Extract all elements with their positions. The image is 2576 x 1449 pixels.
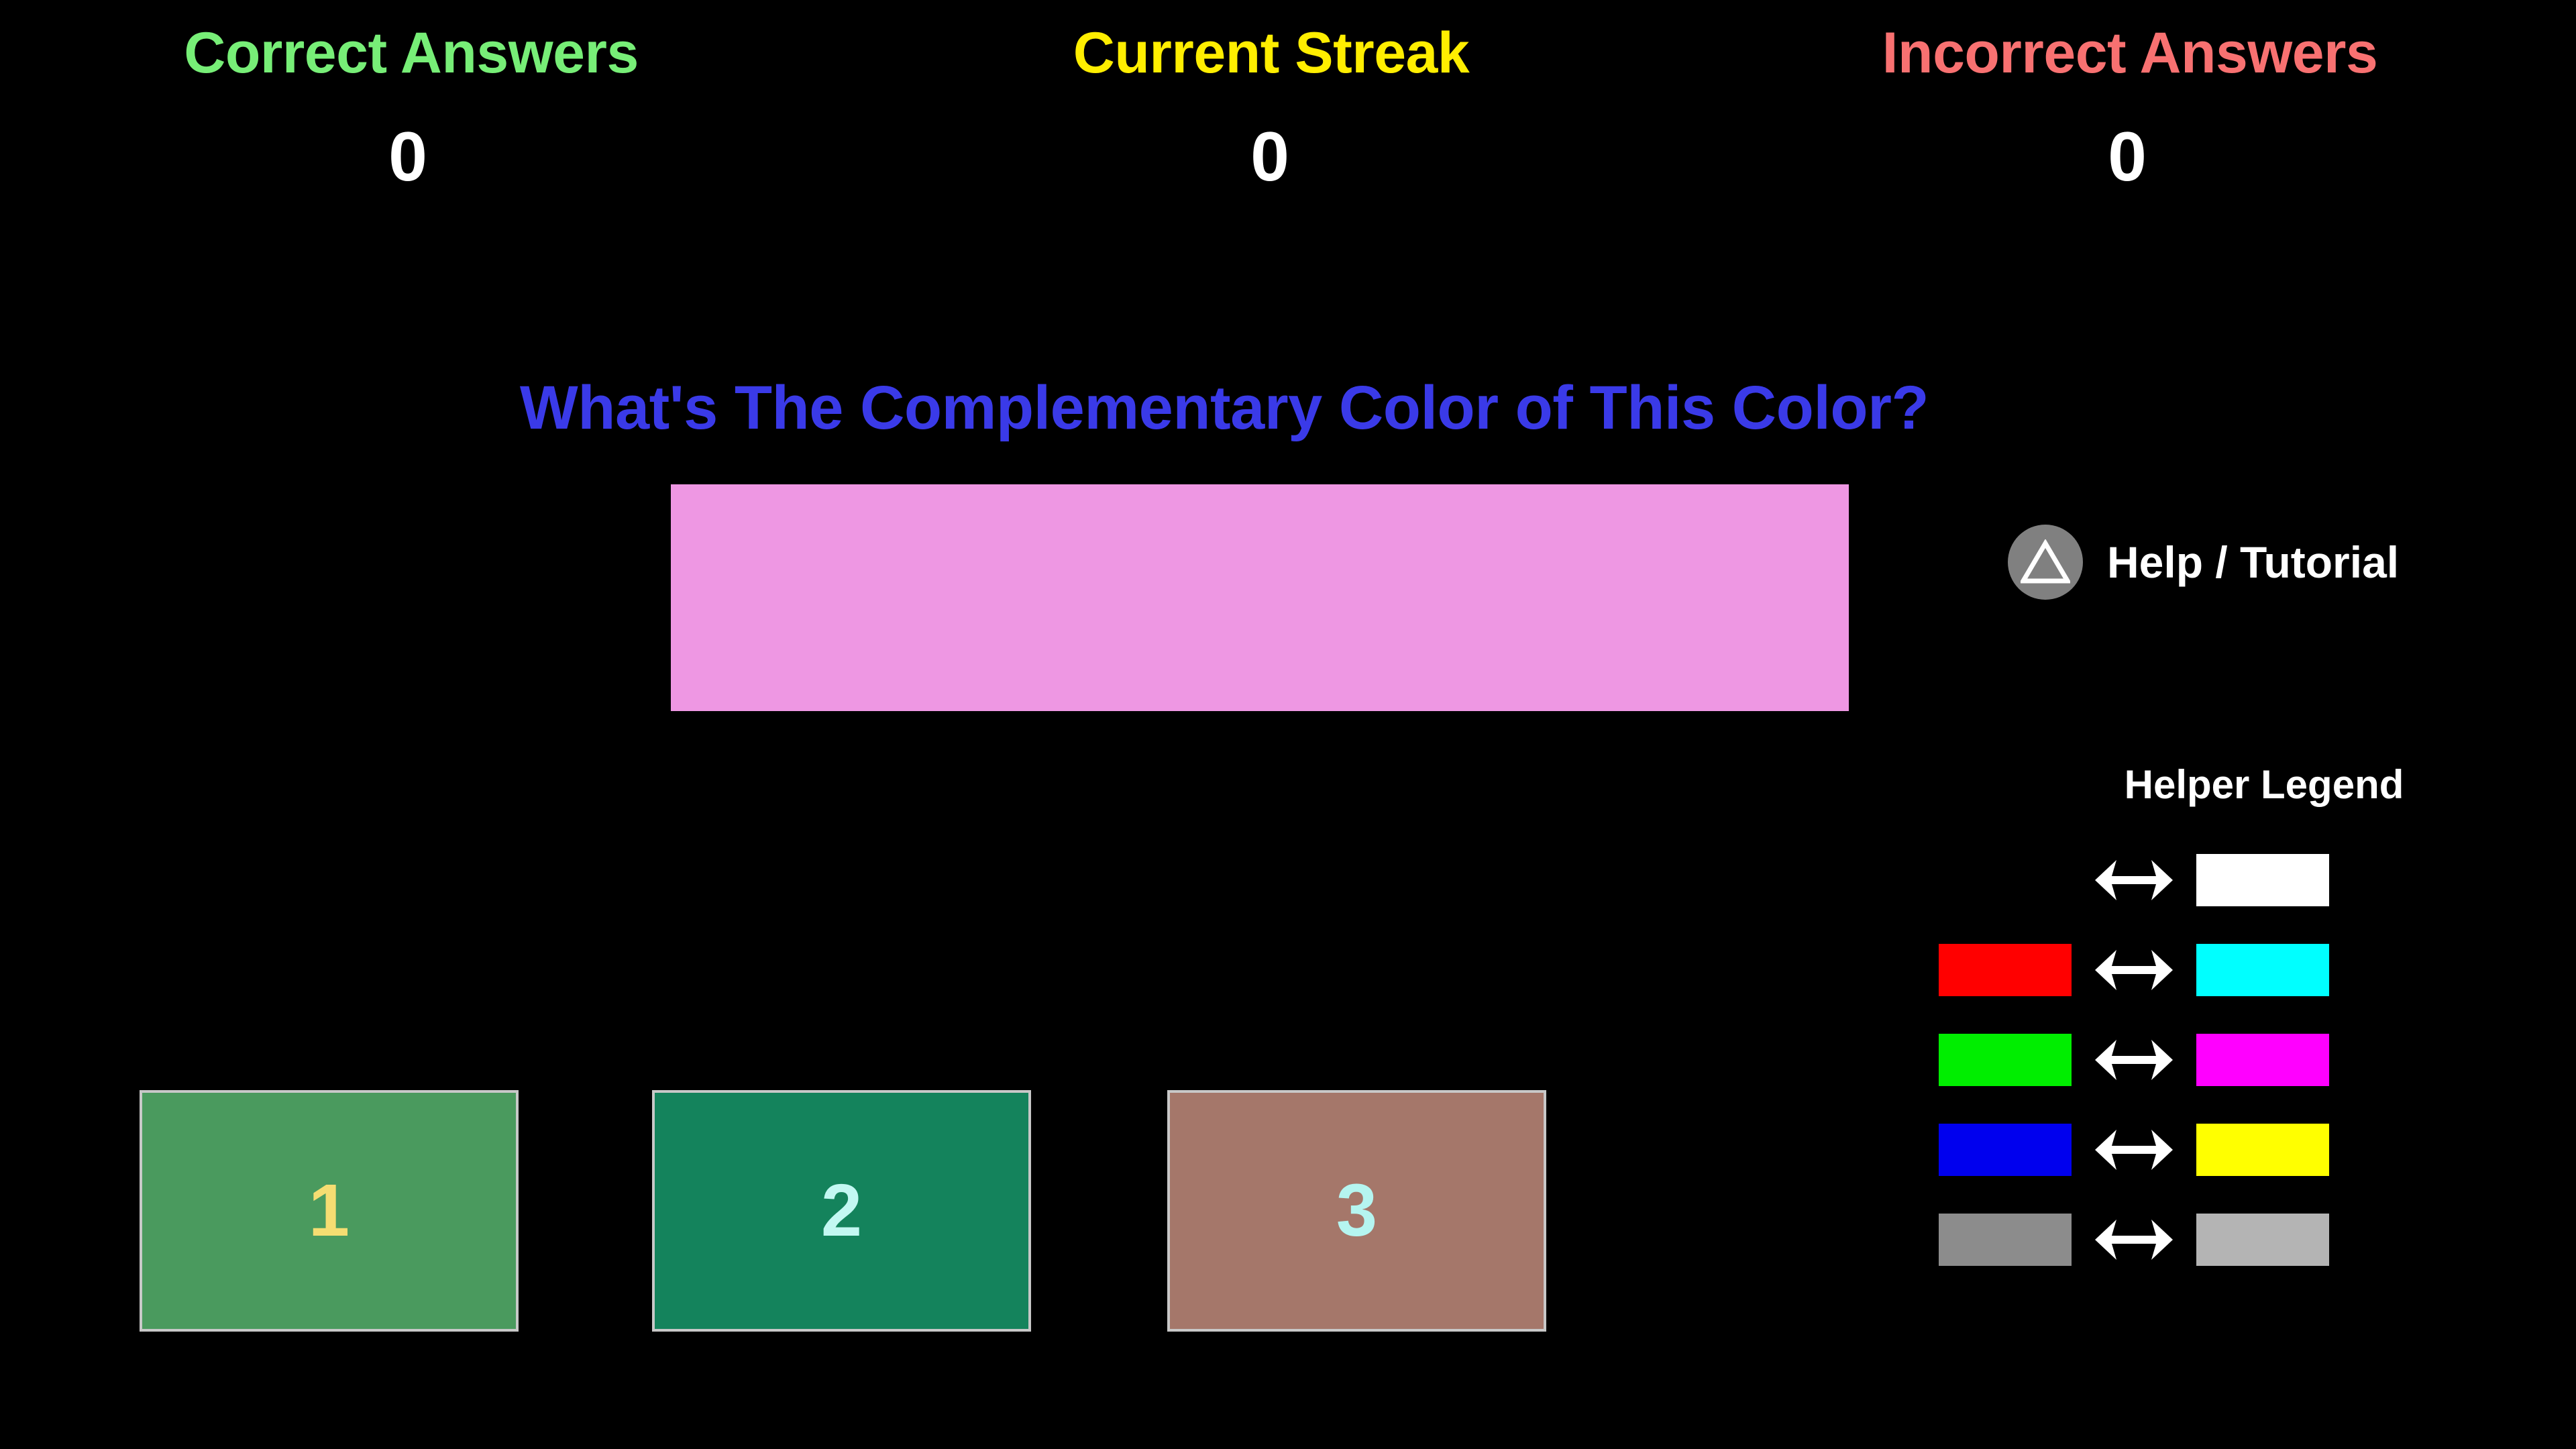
- stat-correct-answers-value: 0: [177, 122, 639, 192]
- stat-incorrect-answers-value: 0: [1877, 122, 2378, 192]
- answer-button-3-label: 3: [1336, 1174, 1377, 1248]
- helper-legend-title: Helper Legend: [2059, 765, 2469, 805]
- question-title: What's The Complementary Color of This C…: [520, 377, 1929, 439]
- legend-swatch-left: [1939, 854, 2072, 906]
- legend-swatch-right: [2196, 944, 2329, 996]
- question-color-swatch: [671, 484, 1849, 711]
- stat-incorrect-answers: Incorrect Answers 0: [1882, 24, 2378, 192]
- stats-bar: Correct Answers 0 Current Streak 0 Incor…: [0, 0, 2576, 241]
- answer-buttons: 1 2 3: [0, 1090, 2576, 1345]
- answer-button-1[interactable]: 1: [140, 1090, 519, 1332]
- legend-row: [1939, 936, 2469, 1004]
- left-right-arrow-icon: [2072, 856, 2196, 904]
- legend-row: [1939, 847, 2469, 914]
- legend-swatch-right: [2196, 1034, 2329, 1086]
- legend-swatch-left: [1939, 944, 2072, 996]
- stat-incorrect-answers-label: Incorrect Answers: [1882, 24, 2378, 82]
- stat-current-streak-label: Current Streak: [1073, 24, 1469, 82]
- help-tutorial-button[interactable]: Help / Tutorial: [2008, 525, 2399, 600]
- legend-row: [1939, 1026, 2469, 1093]
- stat-current-streak-value: 0: [1071, 122, 1469, 192]
- answer-button-1-label: 1: [309, 1174, 350, 1248]
- legend-swatch-left: [1939, 1034, 2072, 1086]
- legend-swatch-right: [2196, 854, 2329, 906]
- left-right-arrow-icon: [2072, 946, 2196, 994]
- stat-correct-answers: Correct Answers 0: [184, 24, 639, 192]
- answer-button-2-label: 2: [821, 1174, 862, 1248]
- help-tutorial-label: Help / Tutorial: [2107, 540, 2399, 584]
- stat-current-streak: Current Streak 0: [1073, 24, 1469, 192]
- triangle-icon: [2008, 525, 2083, 600]
- stat-correct-answers-label: Correct Answers: [184, 24, 639, 82]
- answer-button-3[interactable]: 3: [1167, 1090, 1546, 1332]
- answer-button-2[interactable]: 2: [652, 1090, 1031, 1332]
- left-right-arrow-icon: [2072, 1036, 2196, 1084]
